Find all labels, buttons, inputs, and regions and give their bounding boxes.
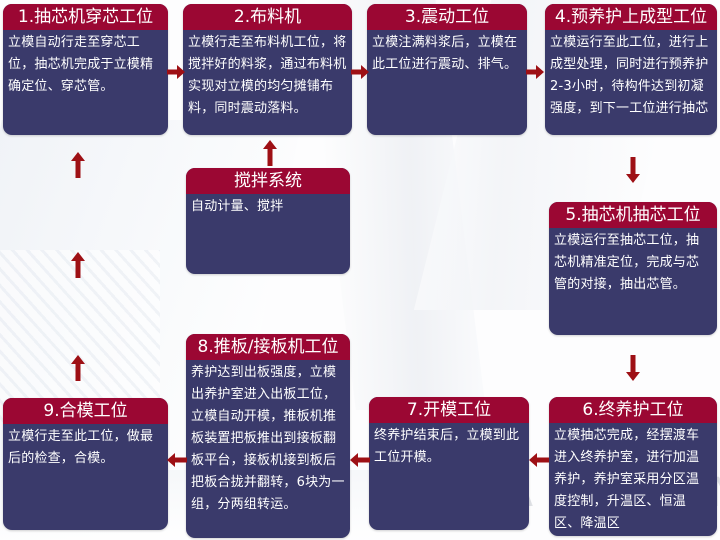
node-5-title: 5.抽芯机抽芯工位 <box>549 202 717 228</box>
node-3-title: 3.震动工位 <box>367 4 527 30</box>
arrow-node4-to-node5-icon <box>625 157 641 183</box>
node-2-body: 立模行走至布料机工位，将搅拌好的料浆，通过布料机实现对立模的均匀摊铺布料，同时震… <box>183 30 352 124</box>
node-mixing-system-title: 搅拌系统 <box>186 168 350 194</box>
node-4-body: 立模运行至此工位，进行上成型处理，同时进行预养护2-3小时，待构件达到初凝强度，… <box>545 30 717 124</box>
arrow-left-lower-icon <box>70 355 86 381</box>
node-8-title: 8.推板/接板机工位 <box>186 334 350 360</box>
node-4-pre-curing-forming-station[interactable]: 4.预养护上成型工位 立模运行至此工位，进行上成型处理，同时进行预养护2-3小时… <box>545 4 717 135</box>
node-2-title: 2.布料机 <box>183 4 352 30</box>
node-1-body: 立模自动行走至穿芯工位，抽芯机完成于立模精确定位、穿芯管。 <box>3 30 168 102</box>
arrow-node5-to-node6-icon <box>625 355 641 381</box>
arrow-node8-to-node9-icon <box>167 452 187 468</box>
node-mixing-system[interactable]: 搅拌系统 自动计量、搅拌 <box>186 168 350 274</box>
node-6-title: 6.终养护工位 <box>549 397 717 423</box>
node-5-body: 立模运行至抽芯工位，抽芯机精准定位，完成与芯管的对接，抽出芯管。 <box>549 228 717 300</box>
node-9-body: 立模行走至此工位，做最后的检查，合模。 <box>3 424 168 474</box>
flowchart-canvas: NEWS PHOTO MANA COMPANY 1.抽芯机穿芯工位 立模自动行走… <box>0 0 720 540</box>
arrow-node3-to-node4-icon <box>526 64 544 80</box>
node-3-vibration-station[interactable]: 3.震动工位 立模注满料浆后，立模在此工位进行震动、排气。 <box>367 4 527 135</box>
node-9-title: 9.合模工位 <box>3 398 168 424</box>
node-7-body: 终养护结束后，立模到此工位开模。 <box>369 423 529 473</box>
node-5-core-pulling-station[interactable]: 5.抽芯机抽芯工位 立模运行至抽芯工位，抽芯机精准定位，完成与芯管的对接，抽出芯… <box>549 202 717 335</box>
node-7-demoulding-station[interactable]: 7.开模工位 终养护结束后，立模到此工位开模。 <box>369 397 529 530</box>
node-mixing-system-body: 自动计量、搅拌 <box>186 194 350 222</box>
node-9-mould-closing-station[interactable]: 9.合模工位 立模行走至此工位，做最后的检查，合模。 <box>3 398 168 530</box>
arrow-node6-to-node7-icon <box>529 452 549 468</box>
node-6-body: 立模抽芯完成，经摆渡车进入终养护室，进行加温养护，养护室采用分区温度控制，升温区… <box>549 423 717 536</box>
arrow-left-upper-icon <box>70 152 86 178</box>
node-3-body: 立模注满料浆后，立模在此工位进行震动、排气。 <box>367 30 527 80</box>
node-4-title: 4.预养护上成型工位 <box>545 4 717 30</box>
arrow-mixing-system-to-node2-icon <box>262 140 278 166</box>
arrow-node7-to-node8-icon <box>350 452 370 468</box>
node-6-final-curing-station[interactable]: 6.终养护工位 立模抽芯完成，经摆渡车进入终养护室，进行加温养护，养护室采用分区… <box>549 397 717 536</box>
arrow-left-middle-icon <box>70 252 86 278</box>
node-1-core-pulling-threading-station[interactable]: 1.抽芯机穿芯工位 立模自动行走至穿芯工位，抽芯机完成于立模精确定位、穿芯管。 <box>3 4 168 135</box>
node-1-title: 1.抽芯机穿芯工位 <box>3 4 168 30</box>
node-8-body: 养护达到出板强度，立模出养护室进入出板工位，立模自动开模，推板机推板装置把板推出… <box>186 360 350 520</box>
node-8-push-receive-board-station[interactable]: 8.推板/接板机工位 养护达到出板强度，立模出养护室进入出板工位，立模自动开模，… <box>186 334 350 538</box>
node-2-distributor-machine[interactable]: 2.布料机 立模行走至布料机工位，将搅拌好的料浆，通过布料机实现对立模的均匀摊铺… <box>183 4 352 135</box>
node-7-title: 7.开模工位 <box>369 397 529 423</box>
